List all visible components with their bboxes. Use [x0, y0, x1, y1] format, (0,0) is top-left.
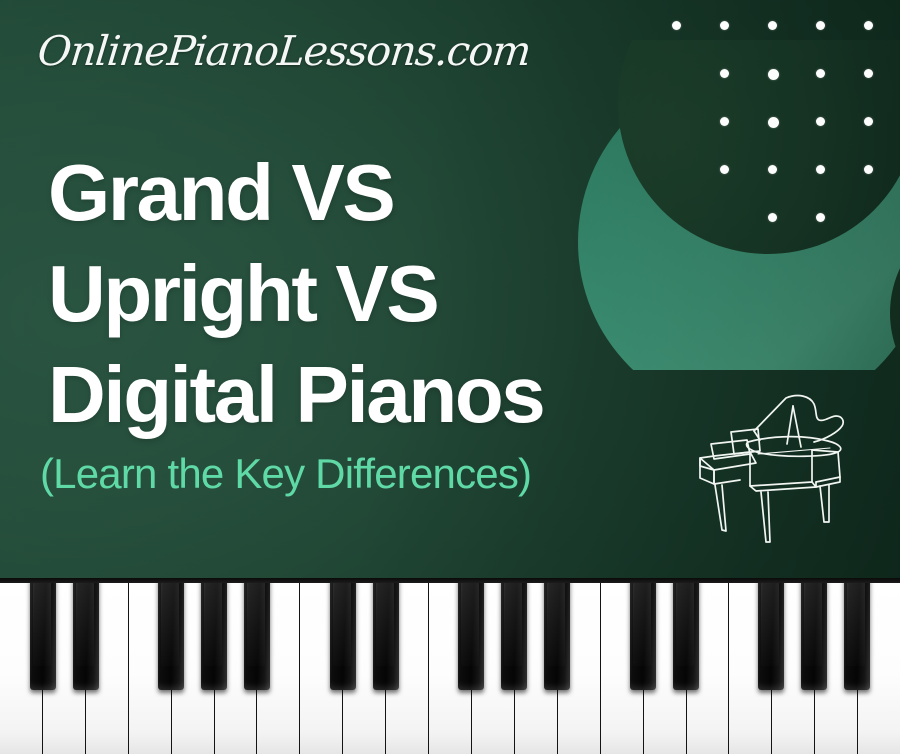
black-key[interactable] — [801, 578, 827, 690]
black-key[interactable] — [330, 578, 356, 690]
poster-canvas: OnlinePianoLessons.com Grand VS Upright … — [0, 0, 900, 754]
page-subtitle: (Learn the Key Differences) — [40, 450, 531, 498]
headline-line-2: Upright VS — [48, 243, 728, 344]
black-key[interactable] — [458, 578, 484, 690]
black-key[interactable] — [73, 578, 99, 690]
black-key[interactable] — [244, 578, 270, 690]
black-key[interactable] — [201, 578, 227, 690]
black-key[interactable] — [30, 578, 56, 690]
black-key[interactable] — [373, 578, 399, 690]
black-key[interactable] — [758, 578, 784, 690]
keyboard-top-lip — [0, 578, 900, 583]
black-key[interactable] — [673, 578, 699, 690]
black-key[interactable] — [158, 578, 184, 690]
grand-piano-line-art-icon — [688, 392, 876, 552]
site-logo: OnlinePianoLessons.com — [35, 27, 532, 75]
headline-line-3: Digital Pianos — [48, 344, 728, 445]
headline-line-1: Grand VS — [48, 142, 728, 243]
black-key[interactable] — [630, 578, 656, 690]
page-title: Grand VS Upright VS Digital Pianos — [48, 142, 728, 445]
black-key[interactable] — [844, 578, 870, 690]
piano-keyboard[interactable] — [0, 578, 900, 754]
black-key[interactable] — [501, 578, 527, 690]
black-key[interactable] — [544, 578, 570, 690]
